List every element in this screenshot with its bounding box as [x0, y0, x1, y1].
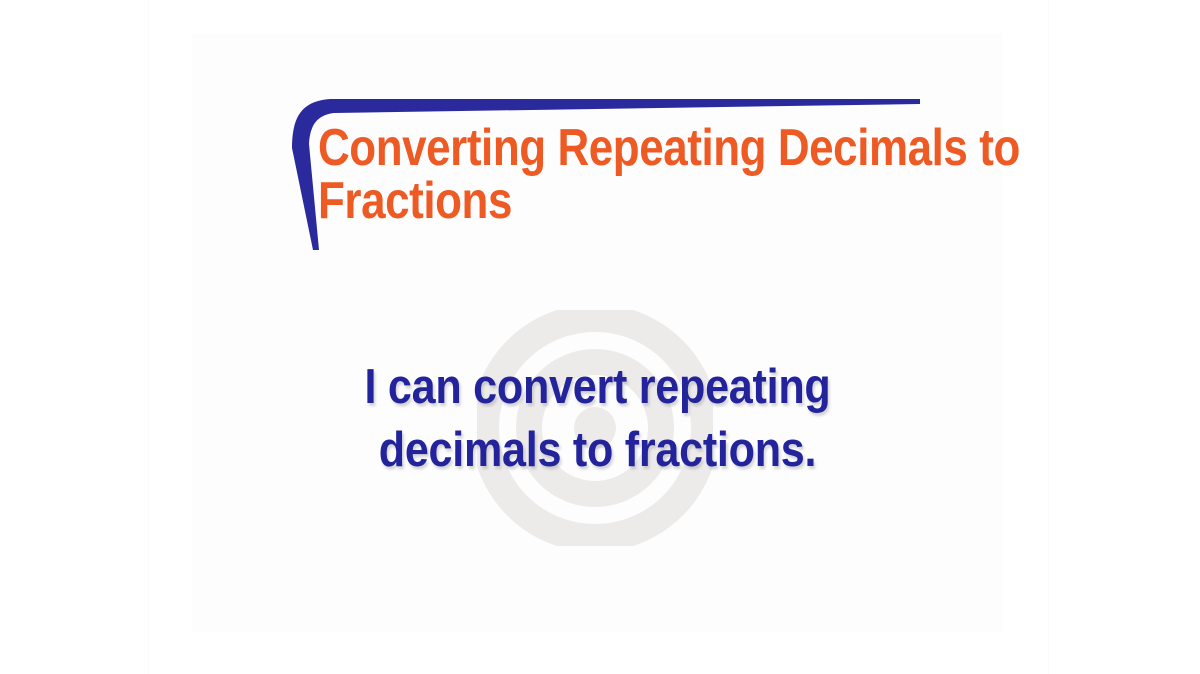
- title-line-2: Fractions: [318, 175, 833, 228]
- slide-title: Converting Repeating Decimals to Fractio…: [318, 122, 928, 228]
- learning-objective: I can convert repeating decimals to frac…: [192, 356, 1003, 482]
- left-gutter-rule: [148, 0, 149, 674]
- title-line-1: Converting Repeating Decimals to: [318, 122, 833, 175]
- objective-line-2: decimals to fractions.: [241, 419, 955, 482]
- right-gutter-rule: [1048, 0, 1049, 674]
- slide-canvas: Converting Repeating Decimals to Fractio…: [0, 0, 1200, 674]
- objective-line-1: I can convert repeating: [241, 356, 955, 419]
